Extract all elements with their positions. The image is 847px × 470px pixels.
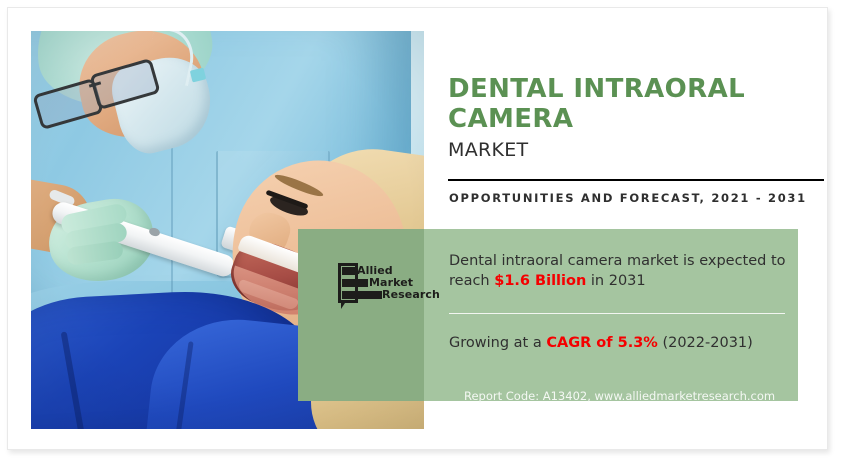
page-title: DENTAL INTRAORAL CAMERA	[448, 74, 828, 134]
logo-line-allied: Allied	[357, 265, 393, 276]
header-block: DENTAL INTRAORAL CAMERA MARKET	[448, 74, 828, 162]
allied-market-research-logo: Allied Market Research	[338, 263, 424, 315]
page-subtitle: MARKET	[448, 138, 828, 162]
logo-bubble-tail-icon	[341, 300, 347, 309]
market-size-statement: Dental intraoral camera market is expect…	[449, 251, 789, 291]
cagr-prefix: Growing at a	[449, 335, 546, 351]
header-divider	[448, 179, 824, 181]
logo-line-research: Research	[382, 289, 440, 300]
cagr-statement: Growing at a CAGR of 5.3% (2022-2031)	[449, 333, 789, 353]
logo-line-market: Market	[369, 277, 413, 288]
forecast-kicker: OPPORTUNITIES AND FORECAST, 2021 - 2031	[449, 190, 824, 207]
market-size-value: $1.6 Billion	[494, 273, 586, 289]
market-size-suffix: in 2031	[586, 273, 645, 289]
highlight-box-divider	[449, 313, 785, 314]
cagr-suffix: (2022-2031)	[658, 335, 753, 351]
cagr-value: CAGR of 5.3%	[546, 335, 658, 351]
logo-bar-1	[342, 267, 356, 275]
logo-bar-2	[342, 279, 368, 287]
highlight-box-overlap	[298, 229, 424, 401]
logo-bar-3	[342, 291, 382, 299]
report-card: Allied Market Research DENTAL INTRAORAL …	[7, 7, 828, 450]
report-code: Report Code: A13402, www.alliedmarketres…	[464, 389, 775, 403]
